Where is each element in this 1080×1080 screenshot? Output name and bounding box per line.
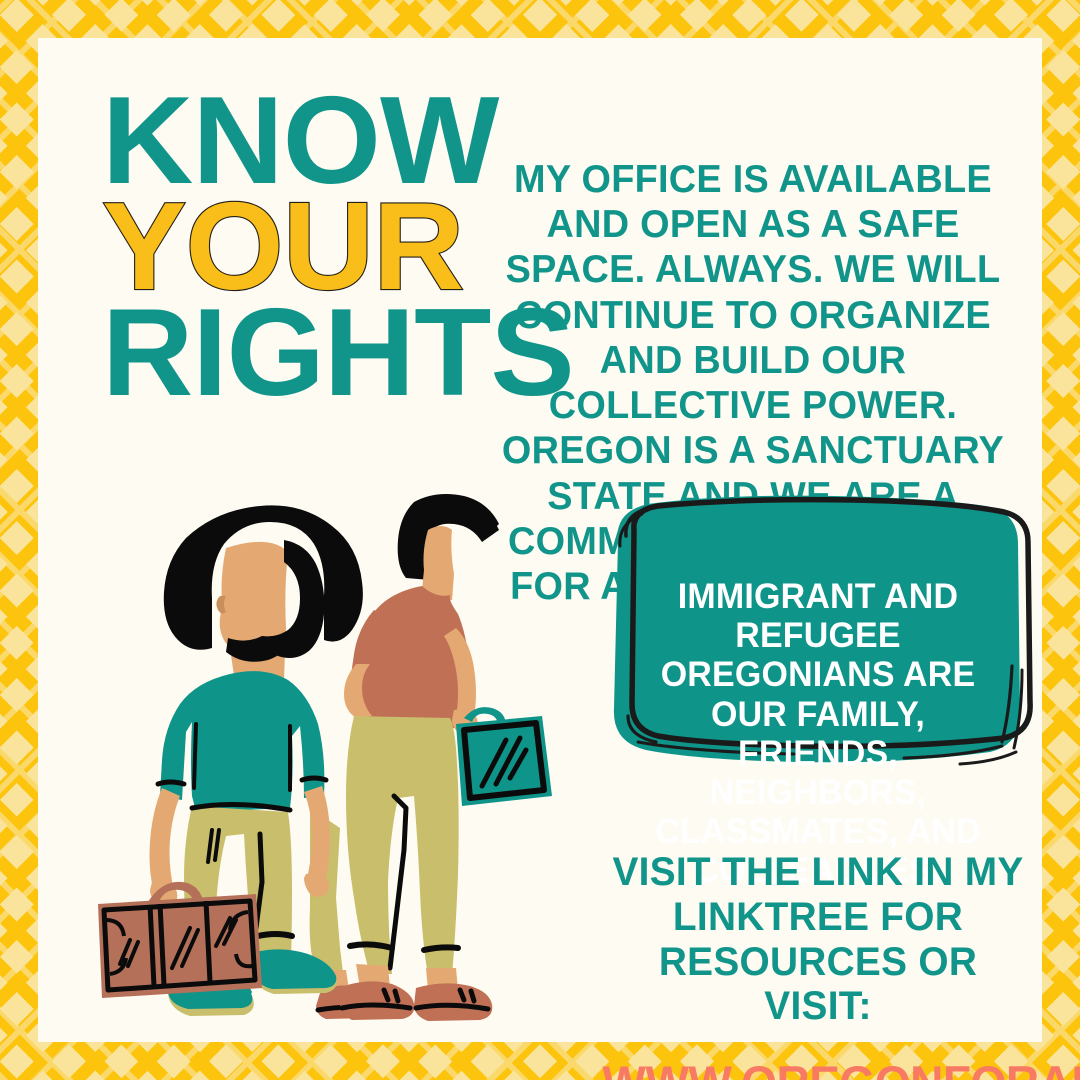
cta-instruction: VISIT THE LINK IN MY LINKTREE FOR RESOUR…	[605, 850, 1032, 1029]
callout-text: IMMIGRANT AND REFUGEE OREGONIANS ARE OUR…	[647, 577, 988, 891]
page-title: KNOW YOUR RIGHTS	[102, 88, 502, 406]
cta-block: VISIT THE LINK IN MY LINKTREE FOR RESOUR…	[598, 850, 1038, 1080]
callout-box: IMMIGRANT AND REFUGEE OREGONIANS ARE OUR…	[604, 490, 1034, 796]
illustration-two-travellers	[78, 478, 598, 1048]
headline-line-rights: RIGHTS	[102, 300, 510, 406]
cta-url[interactable]: WWW.OREGONFORALL.US	[602, 1055, 1033, 1080]
content-card: KNOW YOUR RIGHTS MY OFFICE IS AVAILABLE …	[38, 38, 1042, 1042]
poster-root: KNOW YOUR RIGHTS MY OFFICE IS AVAILABLE …	[0, 0, 1080, 1080]
brown-suitcase-icon	[98, 882, 262, 998]
